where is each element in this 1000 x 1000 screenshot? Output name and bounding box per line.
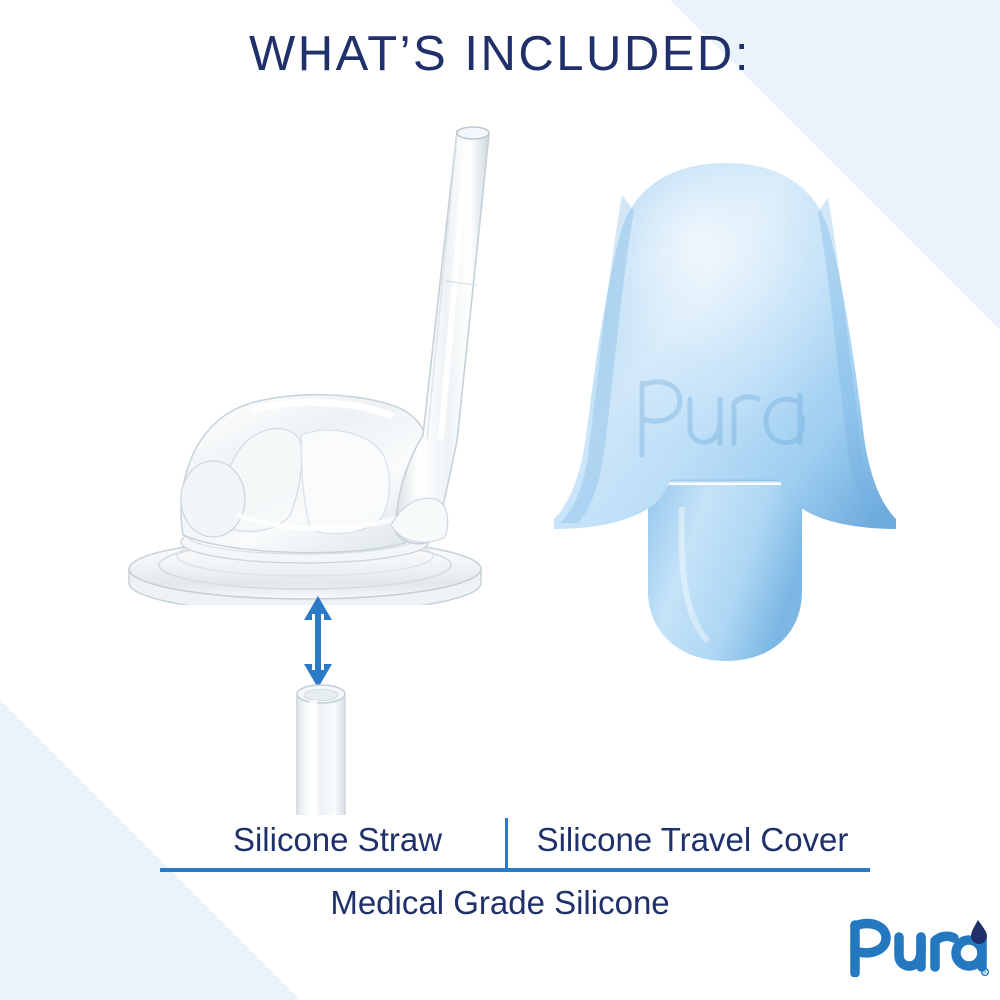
product-stage: [0, 0, 1000, 830]
water-droplet-icon: [971, 920, 987, 944]
double-headed-arrow-icon: [296, 596, 340, 688]
silicone-travel-cover-image: [530, 155, 920, 675]
cover-bottom-tab: [648, 485, 802, 661]
silicone-sippy-spout-image: [105, 95, 505, 605]
spout-straw-tube: [391, 127, 489, 544]
label-divider: [505, 818, 508, 872]
product-labels-row: Silicone Straw Silicone Travel Cover: [160, 812, 870, 872]
silicone-straw-image: [275, 680, 367, 815]
svg-text:R: R: [983, 970, 986, 975]
pura-brand-logo: R: [845, 915, 990, 977]
label-silicone-straw: Silicone Straw: [160, 812, 515, 872]
label-silicone-travel-cover: Silicone Travel Cover: [515, 812, 870, 872]
infographic-canvas: WHAT’S INCLUDED:: [0, 0, 1000, 1000]
labels-underline: [160, 868, 870, 872]
